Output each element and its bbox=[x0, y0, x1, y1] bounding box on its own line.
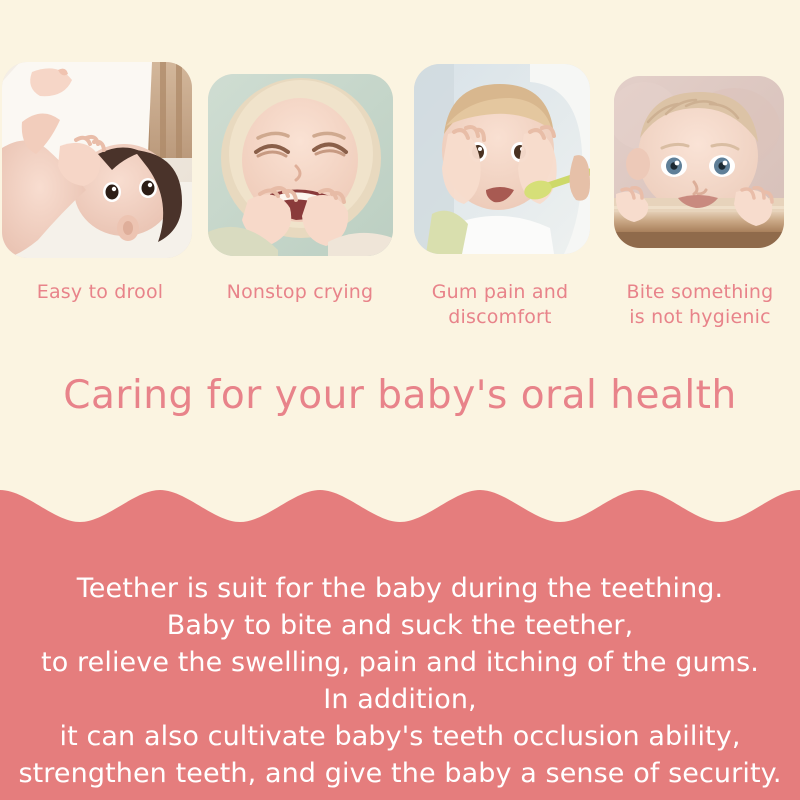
photo-cell-easy-to-drool: Easy to drool bbox=[0, 0, 200, 268]
headline-text: Caring for your baby's oral health bbox=[63, 373, 736, 418]
caption-bite-something-is-not-hygienic: Bite something is not hygienic bbox=[600, 280, 800, 330]
caption-text: Nonstop crying bbox=[227, 281, 374, 303]
infographic-page: Easy to drool bbox=[0, 0, 800, 800]
promo-line-5: it can also cultivate baby's teeth occlu… bbox=[0, 718, 800, 755]
headline: Caring for your baby's oral health bbox=[0, 372, 800, 420]
photo-cell-nonstop-crying: Nonstop crying bbox=[200, 0, 400, 268]
pink-promo-panel: Teether is suit for the baby during the … bbox=[0, 480, 800, 800]
caption-line-1: Gum pain and bbox=[432, 281, 569, 303]
caption-easy-to-drool: Easy to drool bbox=[0, 280, 200, 305]
caption-line-1: Bite something bbox=[627, 281, 774, 303]
photo-baby-biting-wooden-crib-rail bbox=[614, 76, 784, 248]
promo-line-6: strengthen teeth, and give the baby a se… bbox=[0, 755, 800, 792]
promo-line-1: Teether is suit for the baby during the … bbox=[0, 570, 800, 607]
caption-gum-pain-and-discomfort: Gum pain and discomfort bbox=[400, 280, 600, 330]
photo-strip: Easy to drool bbox=[0, 0, 800, 268]
promo-line-3: to relieve the swelling, pain and itchin… bbox=[0, 644, 800, 681]
caption-nonstop-crying: Nonstop crying bbox=[200, 280, 400, 305]
caption-line-2: is not hygienic bbox=[629, 306, 770, 328]
caption-line-2: discomfort bbox=[448, 306, 551, 328]
promo-line-4: In addition, bbox=[0, 681, 800, 718]
photo-crying-toddler-hands-at-mouth bbox=[208, 74, 393, 256]
photo-cell-bite-something-is-not-hygienic: Bite something is not hygienic bbox=[600, 0, 800, 268]
caption-text: Easy to drool bbox=[37, 281, 164, 303]
promo-text-block: Teether is suit for the baby during the … bbox=[0, 570, 800, 792]
promo-line-2: Baby to bite and suck the teether, bbox=[0, 607, 800, 644]
photo-baby-lying-in-crib-chewing-hand bbox=[2, 62, 192, 258]
photo-cell-gum-pain-and-discomfort: Gum pain and discomfort bbox=[400, 0, 600, 268]
photo-baby-in-highchair-hands-on-face-with-spoon bbox=[414, 64, 590, 254]
